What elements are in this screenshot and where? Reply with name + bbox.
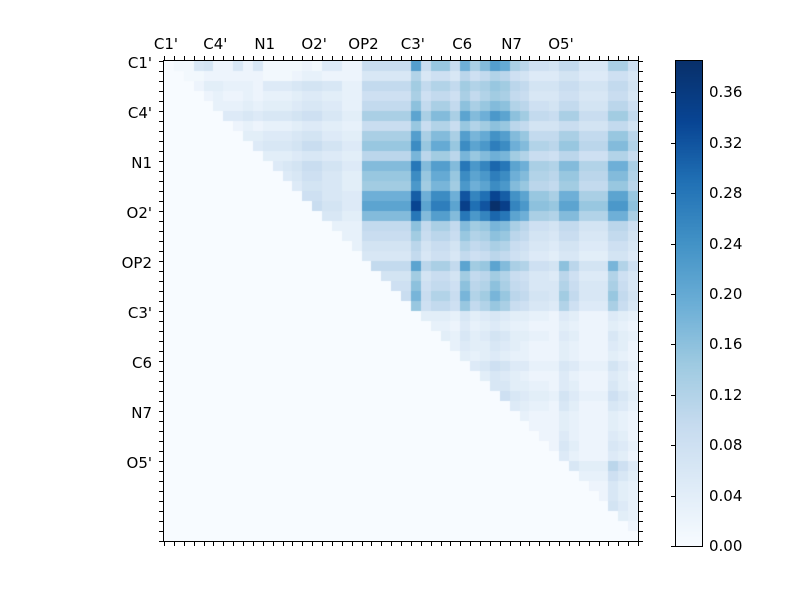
colorbar-tick <box>671 193 675 194</box>
y-tick-label: OP2 <box>152 254 182 272</box>
x-tick-bottom <box>460 542 461 546</box>
x-tick-top <box>480 56 481 60</box>
x-tick-bottom <box>164 542 165 546</box>
y-tick-left <box>159 231 163 232</box>
y-tick-right <box>639 491 643 492</box>
x-tick-bottom <box>312 542 313 546</box>
y-tick-left <box>159 81 163 82</box>
y-tick-right <box>639 101 643 102</box>
y-tick-right <box>639 181 643 182</box>
y-tick-left <box>159 91 163 92</box>
x-tick-bottom <box>579 542 580 546</box>
x-tick-top <box>263 56 264 60</box>
x-tick-top <box>184 56 185 60</box>
y-tick-right <box>639 381 643 382</box>
x-tick-bottom <box>431 542 432 546</box>
x-tick-top <box>362 56 363 60</box>
x-tick-bottom <box>371 542 372 546</box>
y-tick-right <box>639 421 643 422</box>
x-tick-bottom <box>599 542 600 546</box>
y-tick-left <box>159 151 163 152</box>
x-tick-top <box>599 56 600 60</box>
y-tick-left <box>159 521 163 522</box>
y-tick-right <box>639 111 643 112</box>
colorbar-tick-label: 0.04 <box>709 487 742 505</box>
x-tick-label: C6 <box>452 35 472 53</box>
x-tick-label: O5' <box>548 35 573 53</box>
x-tick-bottom <box>362 542 363 546</box>
colorbar-tick-label: 0.12 <box>709 386 742 404</box>
x-tick-label: O2' <box>301 35 326 53</box>
x-tick-bottom <box>500 542 501 546</box>
x-tick-top <box>490 56 491 60</box>
x-tick-top <box>500 56 501 60</box>
x-tick-bottom <box>608 542 609 546</box>
x-tick-top <box>283 56 284 60</box>
y-tick-left <box>159 331 163 332</box>
y-tick-right <box>639 151 643 152</box>
x-tick-top <box>312 56 313 60</box>
x-tick-bottom <box>618 542 619 546</box>
y-tick-right <box>639 251 643 252</box>
x-tick-bottom <box>411 542 412 546</box>
y-tick-label: N1 <box>152 154 173 172</box>
y-tick-right <box>639 281 643 282</box>
x-tick-label: N1 <box>254 35 275 53</box>
x-tick-top <box>421 56 422 60</box>
heatmap-image <box>164 61 638 541</box>
y-tick-right <box>639 311 643 312</box>
x-tick-bottom <box>529 542 530 546</box>
x-tick-top <box>253 56 254 60</box>
x-tick-bottom <box>194 542 195 546</box>
colorbar-tick-label: 0.28 <box>709 184 742 202</box>
colorbar-tick-label: 0.16 <box>709 335 742 353</box>
y-tick-right <box>639 141 643 142</box>
y-tick-left <box>159 101 163 102</box>
x-tick-top <box>411 56 412 60</box>
y-tick-right <box>639 541 643 542</box>
x-tick-bottom <box>539 542 540 546</box>
y-tick-right <box>639 331 643 332</box>
y-tick-left <box>159 131 163 132</box>
x-tick-bottom <box>510 542 511 546</box>
y-tick-left <box>159 341 163 342</box>
y-tick-right <box>639 511 643 512</box>
x-tick-bottom <box>184 542 185 546</box>
y-tick-left <box>159 441 163 442</box>
x-tick-top <box>520 56 521 60</box>
x-tick-bottom <box>638 542 639 546</box>
x-tick-bottom <box>569 542 570 546</box>
y-tick-label: O5' <box>152 454 177 472</box>
x-tick-bottom <box>470 542 471 546</box>
colorbar-tick-label: 0.08 <box>709 436 742 454</box>
x-tick-top <box>470 56 471 60</box>
y-tick-right <box>639 171 643 172</box>
y-tick-right <box>639 211 643 212</box>
x-tick-top <box>450 56 451 60</box>
x-tick-top <box>371 56 372 60</box>
y-tick-label: C1' <box>152 54 176 72</box>
colorbar-tick <box>671 344 675 345</box>
x-tick-top <box>273 56 274 60</box>
colorbar-tick <box>671 244 675 245</box>
colorbar-tick <box>671 294 675 295</box>
y-tick-left <box>159 301 163 302</box>
y-tick-right <box>639 461 643 462</box>
x-tick-bottom <box>253 542 254 546</box>
x-tick-top <box>223 56 224 60</box>
colorbar-tick-label: 0.20 <box>709 285 742 303</box>
x-tick-bottom <box>233 542 234 546</box>
y-tick-right <box>639 471 643 472</box>
heatmap-axes: C1'C4'N1O2'OP2C3'C6N7O5' C1'C4'N1O2'OP2C… <box>163 60 639 542</box>
x-tick-bottom <box>263 542 264 546</box>
y-tick-right <box>639 231 643 232</box>
y-tick-left <box>159 141 163 142</box>
x-tick-bottom <box>204 542 205 546</box>
y-tick-right <box>639 521 643 522</box>
y-tick-label: C6 <box>152 354 172 372</box>
x-tick-top <box>391 56 392 60</box>
colorbar-tick-label: 0.36 <box>709 83 742 101</box>
y-tick-right <box>639 271 643 272</box>
x-tick-top <box>608 56 609 60</box>
y-tick-left <box>159 381 163 382</box>
x-tick-bottom <box>480 542 481 546</box>
x-tick-label: C1' <box>154 35 178 53</box>
x-tick-top <box>352 56 353 60</box>
x-tick-bottom <box>223 542 224 546</box>
y-tick-left <box>159 281 163 282</box>
y-tick-right <box>639 321 643 322</box>
colorbar-gradient <box>676 61 702 546</box>
x-tick-top <box>431 56 432 60</box>
colorbar-tick <box>671 445 675 446</box>
y-tick-right <box>639 361 643 362</box>
y-tick-right <box>639 341 643 342</box>
x-tick-bottom <box>520 542 521 546</box>
y-tick-label: C3' <box>152 304 176 322</box>
x-tick-top <box>628 56 629 60</box>
x-tick-bottom <box>243 542 244 546</box>
y-tick-right <box>639 391 643 392</box>
y-tick-right <box>639 481 643 482</box>
x-tick-top <box>194 56 195 60</box>
x-tick-label: OP2 <box>348 35 378 53</box>
y-tick-left <box>159 351 163 352</box>
x-tick-top <box>292 56 293 60</box>
y-tick-left <box>159 531 163 532</box>
y-tick-right <box>639 401 643 402</box>
colorbar-tick <box>671 143 675 144</box>
y-tick-left <box>159 511 163 512</box>
y-tick-right <box>639 161 643 162</box>
y-tick-left <box>159 541 163 542</box>
y-tick-label: O2' <box>152 204 177 222</box>
y-tick-right <box>639 371 643 372</box>
y-tick-right <box>639 411 643 412</box>
y-tick-right <box>639 441 643 442</box>
x-tick-top <box>401 56 402 60</box>
y-tick-right <box>639 91 643 92</box>
y-tick-left <box>159 291 163 292</box>
x-tick-top <box>638 56 639 60</box>
y-tick-right <box>639 531 643 532</box>
x-tick-bottom <box>490 542 491 546</box>
y-tick-left <box>159 431 163 432</box>
y-tick-right <box>639 291 643 292</box>
y-tick-right <box>639 451 643 452</box>
x-tick-top <box>569 56 570 60</box>
x-tick-bottom <box>302 542 303 546</box>
x-tick-bottom <box>332 542 333 546</box>
x-tick-top <box>549 56 550 60</box>
y-tick-left <box>159 251 163 252</box>
x-tick-top <box>618 56 619 60</box>
y-tick-left <box>159 241 163 242</box>
x-tick-top <box>579 56 580 60</box>
x-tick-bottom <box>174 542 175 546</box>
y-tick-right <box>639 301 643 302</box>
x-tick-bottom <box>441 542 442 546</box>
x-tick-bottom <box>589 542 590 546</box>
x-tick-top <box>233 56 234 60</box>
x-tick-top <box>213 56 214 60</box>
x-tick-bottom <box>559 542 560 546</box>
x-tick-label: C3' <box>401 35 425 53</box>
x-tick-top <box>510 56 511 60</box>
x-tick-top <box>332 56 333 60</box>
y-tick-right <box>639 81 643 82</box>
y-tick-right <box>639 201 643 202</box>
x-tick-top <box>342 56 343 60</box>
y-tick-left <box>159 501 163 502</box>
x-tick-bottom <box>381 542 382 546</box>
y-tick-right <box>639 221 643 222</box>
x-tick-top <box>529 56 530 60</box>
y-tick-left <box>159 481 163 482</box>
y-tick-right <box>639 241 643 242</box>
colorbar-tick <box>671 496 675 497</box>
x-tick-top <box>381 56 382 60</box>
x-tick-top <box>460 56 461 60</box>
colorbar-tick <box>671 546 675 547</box>
y-tick-right <box>639 351 643 352</box>
x-tick-top <box>302 56 303 60</box>
x-tick-bottom <box>322 542 323 546</box>
colorbar-tick <box>671 395 675 396</box>
x-tick-top <box>589 56 590 60</box>
y-tick-right <box>639 191 643 192</box>
y-tick-left <box>159 181 163 182</box>
x-tick-bottom <box>352 542 353 546</box>
x-tick-top <box>559 56 560 60</box>
y-tick-right <box>639 121 643 122</box>
y-tick-right <box>639 131 643 132</box>
x-tick-bottom <box>628 542 629 546</box>
x-tick-top <box>539 56 540 60</box>
x-tick-bottom <box>450 542 451 546</box>
x-tick-bottom <box>213 542 214 546</box>
x-tick-top <box>243 56 244 60</box>
colorbar-tick-label: 0.00 <box>709 537 742 555</box>
colorbar-tick <box>671 92 675 93</box>
y-tick-right <box>639 71 643 72</box>
y-tick-left <box>159 201 163 202</box>
figure-canvas: C1'C4'N1O2'OP2C3'C6N7O5' C1'C4'N1O2'OP2C… <box>0 0 800 600</box>
y-tick-left <box>159 451 163 452</box>
colorbar-tick-label: 0.24 <box>709 235 742 253</box>
colorbar-tick-label: 0.32 <box>709 134 742 152</box>
y-tick-left <box>159 401 163 402</box>
x-tick-top <box>441 56 442 60</box>
x-tick-label: C4' <box>203 35 227 53</box>
x-tick-bottom <box>391 542 392 546</box>
y-tick-label: N7 <box>152 404 173 422</box>
colorbar-axes: 0.000.040.080.120.160.200.240.280.320.36 <box>675 60 703 547</box>
y-tick-right <box>639 431 643 432</box>
x-tick-bottom <box>421 542 422 546</box>
x-tick-bottom <box>283 542 284 546</box>
y-tick-left <box>159 491 163 492</box>
y-tick-left <box>159 191 163 192</box>
y-tick-left <box>159 391 163 392</box>
x-tick-top <box>322 56 323 60</box>
x-tick-bottom <box>292 542 293 546</box>
x-tick-top <box>204 56 205 60</box>
y-tick-label: C4' <box>152 104 176 122</box>
y-tick-right <box>639 261 643 262</box>
x-tick-bottom <box>401 542 402 546</box>
y-tick-right <box>639 61 643 62</box>
x-tick-bottom <box>549 542 550 546</box>
x-tick-label: N7 <box>501 35 522 53</box>
x-tick-bottom <box>273 542 274 546</box>
y-tick-right <box>639 501 643 502</box>
x-tick-bottom <box>342 542 343 546</box>
